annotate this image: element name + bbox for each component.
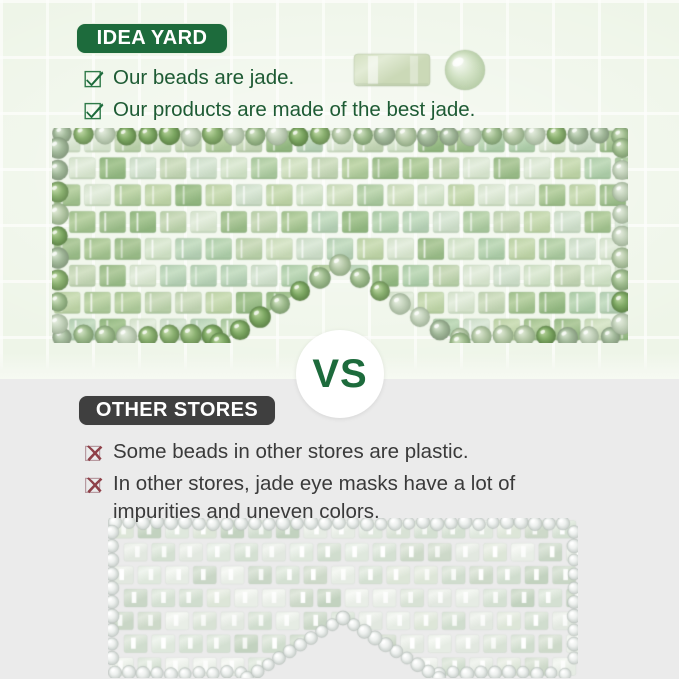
cross-icon — [84, 443, 104, 463]
list-item: Some beads in other stores are plastic. — [84, 438, 604, 466]
checkmark-icon — [84, 69, 104, 89]
list-item: Our products are made of the best jade. — [84, 96, 604, 124]
list-item-label: In other stores, jade eye masks have a l… — [113, 470, 604, 526]
badge-idea-yard: IDEA YARD — [76, 23, 228, 54]
list-item: In other stores, jade eye masks have a l… — [84, 470, 604, 526]
list-item-label: Our beads are jade. — [113, 64, 294, 92]
idea-yard-section — [0, 0, 679, 379]
list-item: Our beads are jade. — [84, 64, 604, 92]
jade-eye-mask-other-image — [108, 518, 578, 678]
jade-eye-mask-premium-image — [52, 128, 628, 343]
list-item-label: Some beads in other stores are plastic. — [113, 438, 469, 466]
jade-eye-mask-premium — [52, 128, 628, 343]
vs-label: VS — [312, 352, 367, 397]
cons-list: Some beads in other stores are plastic. … — [84, 438, 604, 530]
vs-divider: VS — [296, 330, 384, 418]
jade-eye-mask-other — [108, 518, 578, 678]
cross-icon — [84, 475, 104, 495]
list-item-label: Our products are made of the best jade. — [113, 96, 475, 124]
badge-idea-yard-label: IDEA YARD — [97, 27, 208, 50]
checkmark-icon — [84, 101, 104, 121]
badge-other-stores: OTHER STORES — [78, 395, 276, 426]
pros-list: Our beads are jade. Our products are mad… — [84, 64, 604, 128]
badge-other-stores-label: OTHER STORES — [96, 399, 258, 422]
